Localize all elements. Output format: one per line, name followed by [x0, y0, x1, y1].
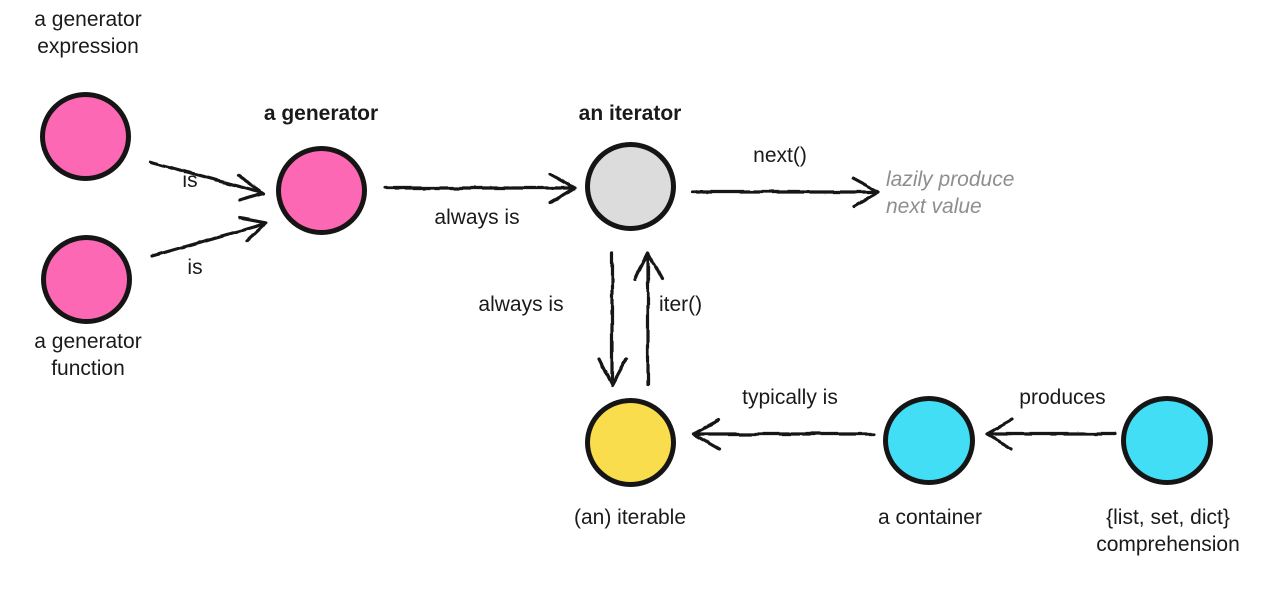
node-generator[interactable] — [276, 146, 367, 235]
edge-label-gen-func-is-generator: is — [165, 255, 225, 281]
arrow-comprehension-produces-container — [987, 420, 1114, 449]
arrow-iterator-always-is-iterable — [599, 253, 626, 385]
node-label-iterator: an iterator — [540, 100, 720, 127]
edge-label-container-typically-is-iterable: typically is — [705, 385, 875, 411]
edge-label-iterable-iter-iterator: iter() — [659, 292, 749, 318]
arrow-generator-always-is-iterator — [385, 174, 575, 203]
edge-label-iterator-always-is-iterable: always is — [446, 292, 596, 318]
node-generator-expression[interactable] — [40, 92, 131, 181]
arrow-gen-func-is-generator — [152, 218, 266, 256]
edge-label-generator-always-is-iterator: always is — [397, 205, 557, 231]
arrow-iterable-iter-iterator — [635, 253, 662, 385]
node-label-generator-expression: a generator expression — [0, 6, 176, 60]
arrow-container-typically-is-iterable — [693, 420, 874, 449]
diagram-canvas: a generator expression a generator funct… — [0, 0, 1278, 592]
edge-label-iterator-next: next() — [710, 143, 850, 169]
arrow-iterator-next — [692, 178, 879, 207]
node-generator-function[interactable] — [41, 235, 132, 324]
node-label-generator: a generator — [231, 100, 411, 127]
node-iterable[interactable] — [585, 398, 676, 487]
edge-label-gen-expr-is-generator: is — [160, 168, 220, 194]
node-comprehension[interactable] — [1121, 396, 1213, 485]
node-label-container: a container — [840, 504, 1020, 531]
note-lazily-produce-next-value: lazily produce next value — [886, 166, 1126, 220]
node-label-comprehension: {list, set, dict} comprehension — [1072, 504, 1264, 558]
node-container[interactable] — [883, 396, 975, 485]
node-label-generator-function: a generator function — [0, 328, 176, 382]
edge-label-comprehension-produces-container: produces — [1000, 385, 1125, 411]
node-iterator[interactable] — [585, 142, 676, 231]
node-label-iterable: (an) iterable — [540, 504, 720, 531]
